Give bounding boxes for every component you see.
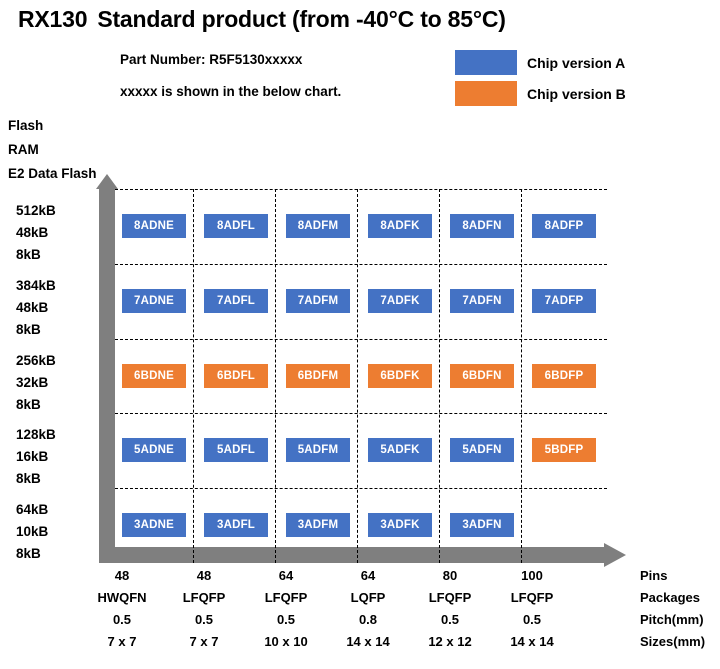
chip-cell[interactable]: 6BDFM [286,364,350,388]
y-axis-memory-flash: 512kB [16,200,98,222]
x-axis-packages-value: LQFP [326,590,410,605]
y-axis-memory-e2: 8kB [16,543,98,565]
x-axis-sizes-value: 14 x 14 [326,634,410,649]
chip-cell[interactable]: 7ADFN [450,289,514,313]
y-axis-memory-e2: 8kB [16,319,98,341]
chip-cell[interactable]: 7ADFM [286,289,350,313]
x-axis-pins-value: 80 [408,568,492,583]
chip-cell[interactable]: 7ADNE [122,289,186,313]
y-axis-memory-ram: 16kB [16,446,98,468]
chip-cell[interactable]: 6BDFK [368,364,432,388]
title-text: Standard product (from -40°C to 85°C) [97,6,505,32]
legend-label-version-a: Chip version A [527,55,625,71]
x-axis-row-label-packages: Packages [640,590,700,605]
y-axis-memory-group: 64kB10kB8kB [16,499,98,565]
x-axis-pitch-value: 0.8 [326,612,410,627]
chip-cell[interactable]: 3ADFL [204,513,268,537]
x-axis-packages-value: LFQFP [244,590,328,605]
x-axis-pitch-value: 0.5 [244,612,328,627]
chip-cell[interactable]: 3ADFN [450,513,514,537]
y-axis-memory-ram: 10kB [16,521,98,543]
x-axis-row-label-pitch: Pitch(mm) [640,612,704,627]
grid-column-separator [275,189,276,563]
y-axis-category-flash: Flash [8,118,43,133]
x-axis-pins-value: 48 [80,568,164,583]
chip-cell[interactable]: 3ADFM [286,513,350,537]
x-axis-packages-value: HWQFN [80,590,164,605]
grid-column-separator [439,189,440,563]
y-axis-memory-flash: 384kB [16,275,98,297]
chip-cell[interactable]: 3ADFK [368,513,432,537]
grid-column-separator [193,189,194,563]
legend-label-version-b: Chip version B [527,86,626,102]
y-axis-category-e2-data-flash: E2 Data Flash [8,166,97,181]
grid-row-separator [115,488,607,489]
x-axis-sizes-value: 12 x 12 [408,634,492,649]
chip-cell[interactable]: 5ADFL [204,438,268,462]
chip-cell[interactable]: 8ADFM [286,214,350,238]
y-axis-memory-e2: 8kB [16,244,98,266]
chip-cell[interactable]: 6BDFN [450,364,514,388]
x-axis-arrow-head [604,543,626,567]
part-number-text: Part Number: R5F5130xxxxx [120,52,302,67]
x-axis-pitch-value: 0.5 [162,612,246,627]
x-axis-packages-value: LFQFP [490,590,574,605]
y-axis-memory-e2: 8kB [16,468,98,490]
chip-cell[interactable]: 5BDFP [532,438,596,462]
chip-cell[interactable]: 8ADFP [532,214,596,238]
x-axis-pins-value: 64 [244,568,328,583]
y-axis-memory-ram: 48kB [16,222,98,244]
chip-cell[interactable]: 7ADFP [532,289,596,313]
chip-cell[interactable]: 7ADFK [368,289,432,313]
chip-cell[interactable]: 6BDFL [204,364,268,388]
y-axis-memory-e2: 8kB [16,394,98,416]
y-axis-memory-flash: 256kB [16,350,98,372]
x-axis-pitch-value: 0.5 [408,612,492,627]
title-model: RX130 [18,6,87,32]
grid-row-separator [115,339,607,340]
chip-cell[interactable]: 5ADFM [286,438,350,462]
y-axis-category-ram: RAM [8,142,39,157]
y-axis-memory-flash: 128kB [16,424,98,446]
y-axis-memory-flash: 64kB [16,499,98,521]
x-axis-sizes-value: 10 x 10 [244,634,328,649]
chip-cell[interactable]: 3ADNE [122,513,186,537]
chip-cell[interactable]: 8ADFK [368,214,432,238]
x-axis-row-label-pins: Pins [640,568,667,583]
x-axis-packages-value: LFQFP [408,590,492,605]
y-axis-memory-ram: 48kB [16,297,98,319]
chip-cell[interactable]: 5ADFN [450,438,514,462]
chip-cell[interactable]: 6BDFP [532,364,596,388]
x-axis-pitch-value: 0.5 [80,612,164,627]
legend-swatch-version-a [455,50,517,75]
y-axis-arrow [99,186,115,563]
chip-cell[interactable]: 8ADFN [450,214,514,238]
x-axis-pins-value: 48 [162,568,246,583]
y-axis-memory-group: 384kB48kB8kB [16,275,98,341]
grid-row-separator [115,189,607,190]
grid-column-separator [521,189,522,563]
part-number-note: xxxxx is shown in the below chart. [120,84,341,99]
x-axis-sizes-value: 14 x 14 [490,634,574,649]
x-axis-pins-value: 100 [490,568,574,583]
chip-grid: 8ADNE8ADFL8ADFM8ADFK8ADFN8ADFP7ADNE7ADFL… [115,189,607,563]
y-axis-memory-ram: 32kB [16,372,98,394]
grid-row-separator [115,264,607,265]
x-axis-sizes-value: 7 x 7 [162,634,246,649]
y-axis-memory-group: 512kB48kB8kB [16,200,98,266]
chip-cell[interactable]: 8ADNE [122,214,186,238]
grid-row-separator [115,413,607,414]
x-axis-row-label-sizes: Sizes(mm) [640,634,705,649]
chip-cell[interactable]: 6BDNE [122,364,186,388]
x-axis-packages-value: LFQFP [162,590,246,605]
product-lineup-chart: RX130Standard product (from -40°C to 85°… [0,0,720,669]
grid-column-separator [357,189,358,563]
chip-cell[interactable]: 8ADFL [204,214,268,238]
chip-cell[interactable]: 5ADNE [122,438,186,462]
page-title: RX130Standard product (from -40°C to 85°… [18,6,506,33]
y-axis-memory-group: 256kB32kB8kB [16,350,98,416]
x-axis-sizes-value: 7 x 7 [80,634,164,649]
chip-cell[interactable]: 5ADFK [368,438,432,462]
x-axis-pins-value: 64 [326,568,410,583]
legend-swatch-version-b [455,81,517,106]
x-axis-pitch-value: 0.5 [490,612,574,627]
y-axis-memory-group: 128kB16kB8kB [16,424,98,490]
chip-cell[interactable]: 7ADFL [204,289,268,313]
